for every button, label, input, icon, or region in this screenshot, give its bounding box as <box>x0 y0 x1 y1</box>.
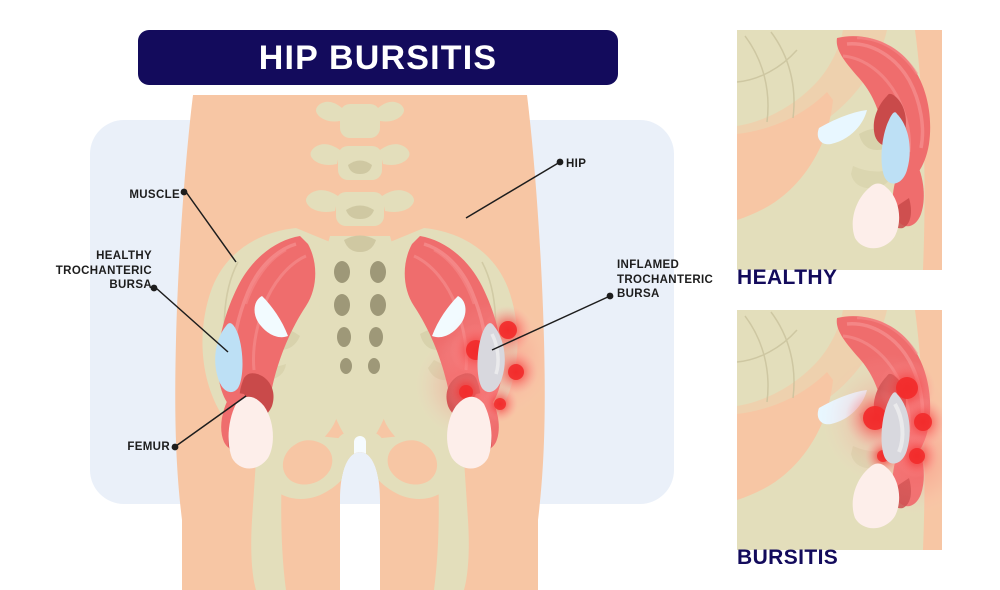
callout-text-inflamed-3: BURSA <box>617 287 732 302</box>
bursitis-hip-closeup-graphic <box>737 310 942 550</box>
callout-label-inflamed-bursa: INFLAMED TROCHANTERIC BURSA <box>617 258 732 302</box>
callout-label-hip: HIP <box>566 157 626 172</box>
callout-label-healthy-bursa: HEALTHY TROCHANTERIC BURSA <box>40 249 152 293</box>
side-panel-bursitis <box>737 310 942 550</box>
callout-label-muscle: MUSCLE <box>110 188 180 203</box>
side-panel-caption-healthy: HEALTHY <box>737 266 837 290</box>
callout-text-muscle: MUSCLE <box>129 189 180 201</box>
callout-text-healthy-3: BURSA <box>40 278 152 293</box>
callout-text-inflamed-1: INFLAMED <box>617 258 732 273</box>
main-illustration-panel: MUSCLE HEALTHY TROCHANTERIC BURSA FEMUR … <box>0 0 720 590</box>
callout-text-inflamed-2: TROCHANTERIC <box>617 273 732 288</box>
callout-text-healthy-2: TROCHANTERIC <box>40 264 152 279</box>
callout-label-femur: FEMUR <box>110 440 170 455</box>
callout-text-hip: HIP <box>566 158 586 170</box>
side-panel-healthy <box>737 30 942 270</box>
callout-text-femur: FEMUR <box>127 441 170 453</box>
healthy-hip-closeup-graphic <box>737 30 942 270</box>
illustration-canvas: MUSCLE HEALTHY TROCHANTERIC BURSA FEMUR … <box>0 0 1000 590</box>
title-banner: HIP BURSITIS <box>138 30 618 85</box>
callout-text-healthy-1: HEALTHY <box>40 249 152 264</box>
pelvis-anatomy-graphic <box>0 0 720 590</box>
page-title: HIP BURSITIS <box>259 41 498 75</box>
side-panel-caption-bursitis: BURSITIS <box>737 546 838 570</box>
